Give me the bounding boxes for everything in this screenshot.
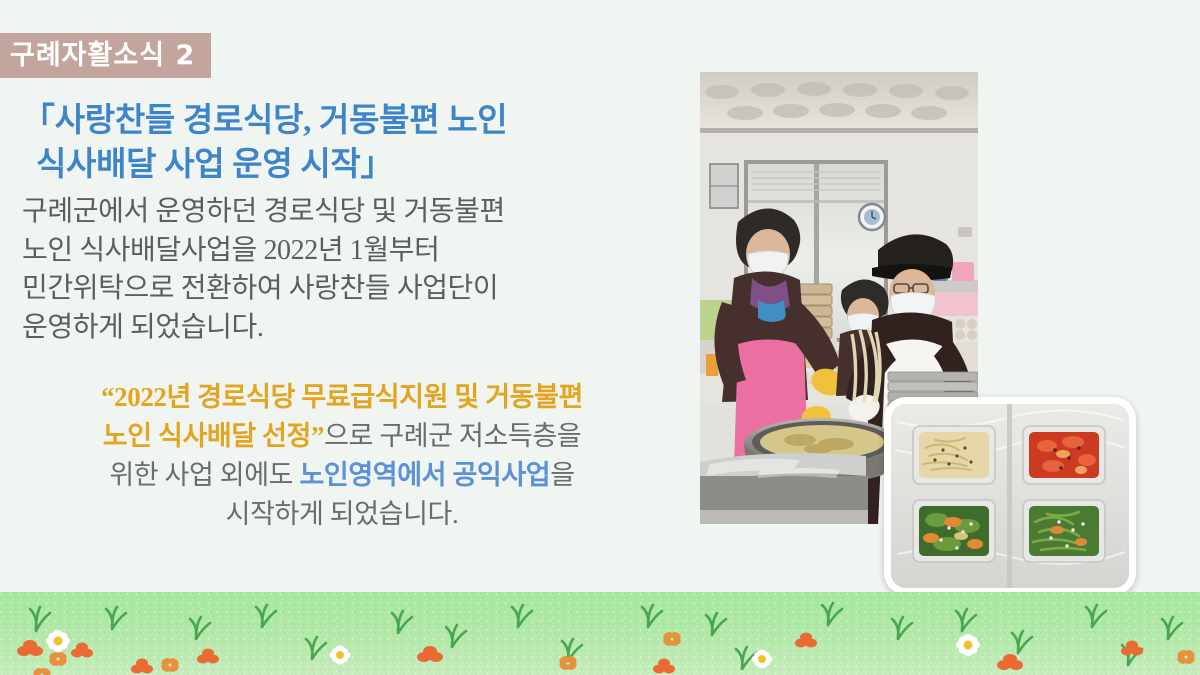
text-column: 「사랑찬들 경로식당, 거동불편 노인 식사배달 사업 운영 시작」 구례군에서… xyxy=(22,100,662,534)
highlight-plain-2: 으로 구례군 저소득층을 xyxy=(324,421,581,451)
side-dish-bottom-right xyxy=(1023,500,1105,562)
highlight-line-3: 위한 사업 외에도 노인영역에서 공익사업을 xyxy=(22,456,662,495)
headline: 「사랑찬들 경로식당, 거동불편 노인 식사배달 사업 운영 시작」 xyxy=(22,100,662,187)
headline-line-2: 식사배달 사업 운영 시작」 xyxy=(22,144,662,188)
meal-boxes-photo xyxy=(884,397,1136,595)
grass-flower-border xyxy=(0,583,1200,675)
body-paragraph: 구례군에서 운영하던 경로식당 및 거동불편 노인 식사배달사업을 2022년 … xyxy=(22,193,662,348)
body-line-1: 구례군에서 운영하던 경로식당 및 거동불편 xyxy=(22,193,662,232)
grass-flower-illustration xyxy=(0,583,1200,675)
meal-boxes-illustration xyxy=(891,404,1129,588)
highlight-plain-3a: 위한 사업 외에도 xyxy=(109,460,299,490)
highlight-line-1: “2022년 경로식당 무료급식지원 및 거동불편 xyxy=(22,378,662,417)
highlight-paragraph: “2022년 경로식당 무료급식지원 및 거동불편 노인 식사배달 선정”으로 … xyxy=(22,378,662,535)
highlight-blue-3: 노인영역에서 공익사업 xyxy=(299,460,550,490)
highlight-line-2: 노인 식사배달 선정”으로 구례군 저소득층을 xyxy=(22,417,662,456)
foreground-table xyxy=(700,453,868,524)
headline-line-1: 「사랑찬들 경로식당, 거동불편 노인 xyxy=(22,103,507,139)
body-line-3: 민간위탁으로 전환하여 사랑찬들 사업단이 xyxy=(22,270,662,309)
header-banner-label: 구례자활소식 2 xyxy=(10,42,195,69)
side-dish-top-right xyxy=(1023,426,1105,484)
highlight-gold-2: 노인 식사배달 선정” xyxy=(103,421,324,451)
body-line-4: 운영하게 되었습니다. xyxy=(22,309,662,348)
highlight-plain-3b: 을 xyxy=(550,460,574,490)
meal-boxes-photo-inner xyxy=(891,404,1129,588)
highlight-line-4: 시작하게 되었습니다. xyxy=(22,495,662,534)
highlight-gold-1: “2022년 경로식당 무료급식지원 및 거동불편 xyxy=(101,382,583,412)
header-banner: 구례자활소식 2 xyxy=(0,33,211,78)
side-dish-top-left xyxy=(913,426,995,484)
side-dish-bottom-left xyxy=(913,500,995,562)
slide-canvas: 구례자활소식 2 「사랑찬들 경로식당, 거동불편 노인 식사배달 사업 운영 … xyxy=(0,0,1200,675)
body-line-2: 노인 식사배달사업을 2022년 1월부터 xyxy=(22,232,662,271)
